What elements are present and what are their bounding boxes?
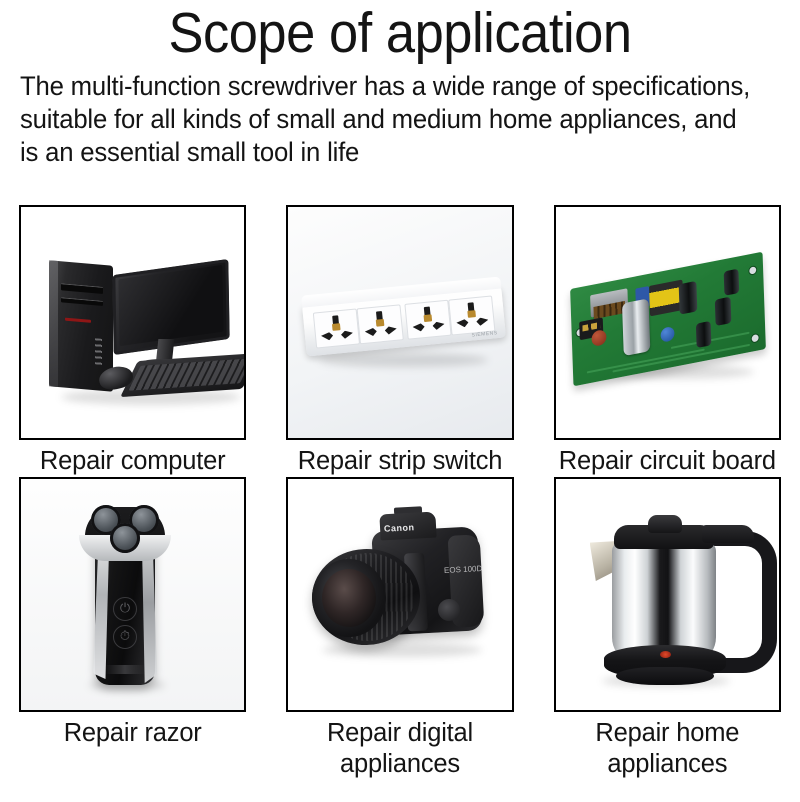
cell-caption: Repair razor — [19, 718, 246, 749]
photo-frame-digital-appliances: Canon EOS 100D — [286, 477, 513, 712]
grid-cell-repair-home-appliances: Repair home appliances — [554, 477, 781, 780]
photo-frame-strip-switch: SIEMENS — [286, 205, 513, 440]
cell-caption: Repair home appliances — [554, 718, 781, 780]
grid-cell-repair-digital-appliances: Canon EOS 100D Repair digital appliances — [286, 477, 513, 780]
photo-frame-computer — [19, 205, 246, 440]
electric-razor-icon: ⏻ ⏱ — [21, 479, 244, 710]
strip-brand-text: SIEMENS — [472, 330, 498, 338]
grid-cell-repair-strip-switch: SIEMENS Repair strip switch — [286, 205, 513, 477]
dslr-camera-icon: Canon EOS 100D — [288, 479, 511, 710]
circuit-board-icon — [556, 207, 779, 438]
page-title: Scope of application — [50, 2, 749, 64]
photo-frame-home-appliances — [554, 477, 781, 712]
electric-kettle-icon — [556, 479, 779, 710]
cell-caption: Repair digital appliances — [286, 718, 513, 780]
photo-frame-razor: ⏻ ⏱ — [19, 477, 246, 712]
grid-cell-repair-razor: ⏻ ⏱ Repair razor — [19, 477, 246, 780]
grid-cell-repair-computer: Repair computer — [19, 205, 246, 477]
cell-caption: Repair computer — [19, 446, 246, 477]
camera-brand-text: Canon — [384, 522, 415, 534]
grid-cell-repair-circuit-board: Repair circuit board — [554, 205, 781, 477]
cell-caption: Repair circuit board — [554, 446, 781, 477]
page-description: The multi-function screwdriver has a wid… — [20, 70, 757, 169]
power-strip-icon: SIEMENS — [288, 207, 511, 438]
header: Scope of application The multi-function … — [0, 2, 800, 169]
infographic-page: Scope of application The multi-function … — [0, 2, 800, 802]
product-grid: Repair computer — [0, 205, 800, 780]
cell-caption: Repair strip switch — [286, 446, 513, 477]
photo-frame-circuit-board — [554, 205, 781, 440]
desktop-computer-icon — [21, 207, 244, 438]
